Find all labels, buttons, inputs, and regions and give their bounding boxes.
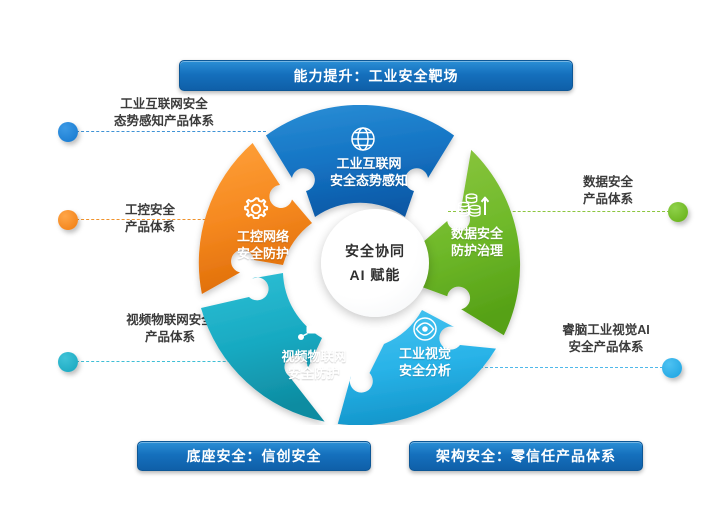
banner-architecture-security[interactable]: 架构安全：零信任产品体系	[409, 441, 643, 471]
segment-industrial-internet[interactable]	[266, 105, 454, 217]
connector-dot-bottom-left	[58, 352, 78, 372]
segment-industrial-vision[interactable]	[338, 310, 496, 425]
connector-dot-top-left	[58, 122, 78, 142]
banner-capability-top[interactable]: 能力提升：工业安全靶场	[179, 60, 573, 91]
banner-foundation-security[interactable]: 底座安全：信创安全	[137, 441, 371, 471]
segment-data-security[interactable]	[422, 150, 520, 335]
callout-label-bottom-right: 睿脑工业视觉AI 安全产品体系	[528, 322, 684, 356]
diagram-canvas: 能力提升：工业安全靶场 底座安全：信创安全 架构安全：零信任产品体系 工业互联网…	[0, 0, 705, 522]
segment-video-iot[interactable]	[201, 273, 325, 422]
connector-dot-bottom-right	[662, 358, 682, 378]
connector-dot-middle-left	[58, 210, 78, 230]
hub-line-1: 安全协同	[345, 239, 405, 263]
callout-label-top-right: 数据安全 产品体系	[548, 174, 668, 208]
center-hub: 安全协同 AI 赋能	[321, 209, 429, 317]
hub-line-2: AI 赋能	[350, 263, 401, 287]
connector-dot-top-right	[668, 202, 688, 222]
